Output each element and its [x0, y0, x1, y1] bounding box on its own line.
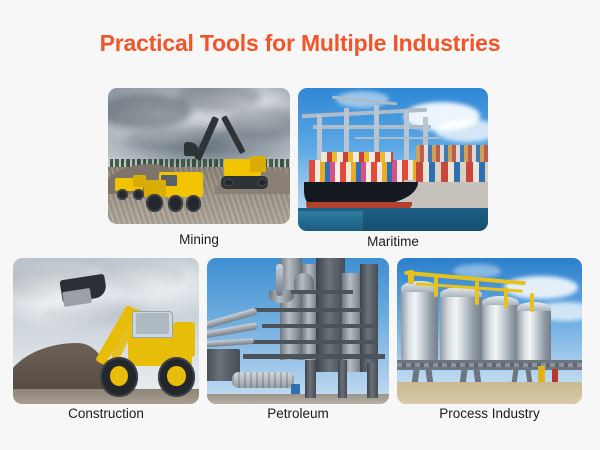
- industry-caption-construction: Construction: [13, 406, 199, 421]
- industry-caption-process-industry: Process Industry: [397, 406, 582, 421]
- maritime-image: [298, 88, 488, 231]
- mining-image: [108, 88, 290, 224]
- industry-card-construction[interactable]: [13, 258, 199, 404]
- industry-card-petroleum[interactable]: [207, 258, 389, 404]
- petroleum-image: [207, 258, 389, 404]
- process-industry-image: [397, 258, 582, 404]
- industry-card-process[interactable]: [397, 258, 582, 404]
- industry-caption-maritime: Maritime: [298, 234, 488, 249]
- industry-caption-petroleum: Petroleum: [207, 406, 389, 421]
- construction-image: [13, 258, 199, 404]
- industry-card-maritime[interactable]: [298, 88, 488, 231]
- industry-card-mining[interactable]: [108, 88, 290, 224]
- industry-caption-mining: Mining: [108, 232, 290, 247]
- page-title: Practical Tools for Multiple Industries: [0, 30, 600, 57]
